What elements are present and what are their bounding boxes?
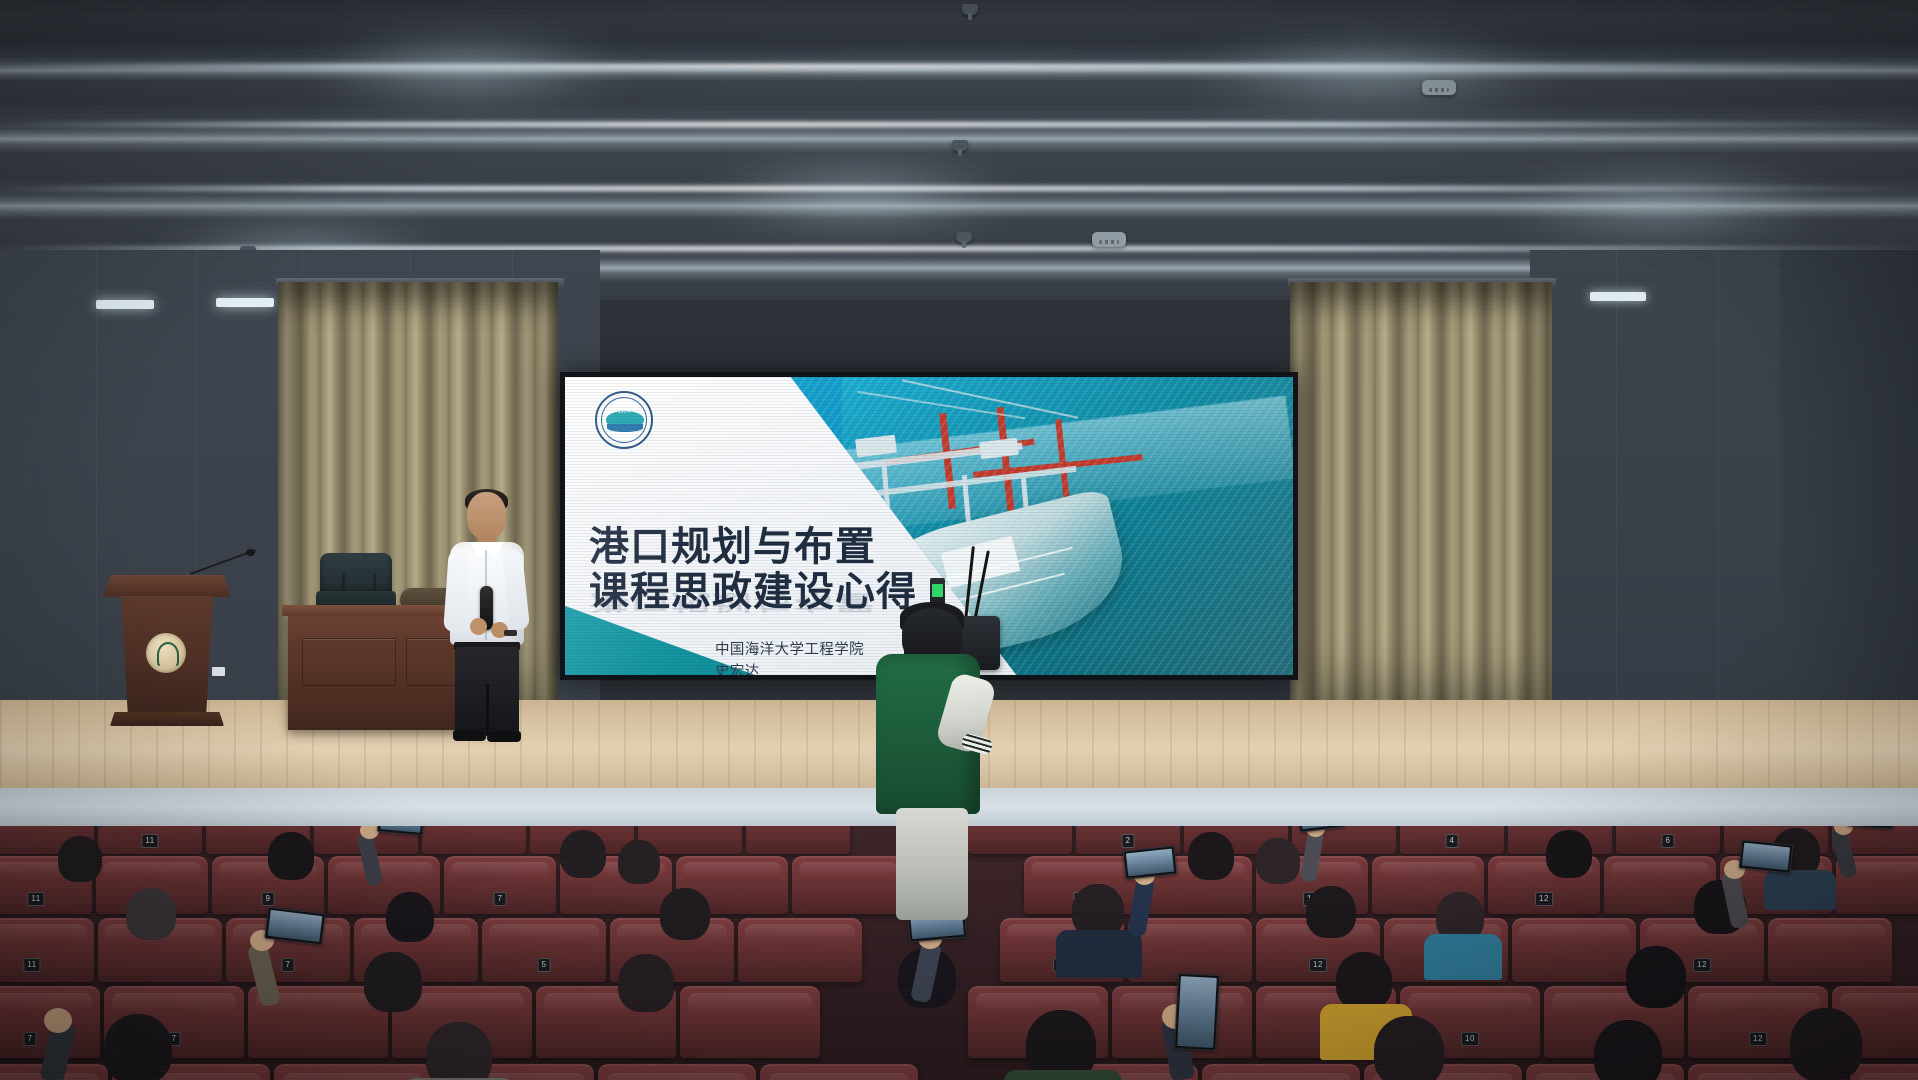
phone-screen — [1126, 849, 1174, 877]
sprinkler-head-icon — [962, 4, 978, 15]
phone-screen — [380, 826, 422, 833]
mic-head — [246, 549, 255, 556]
seat-number: 12 — [1749, 1032, 1767, 1046]
slide-subtitle-block: 中国海洋大学工程学院 史宏达 2023年04月01日 — [715, 640, 864, 675]
lectern-crest-icon — [146, 633, 186, 673]
auditorium-scene: 1924 港口规划与布置 课程思政建设心得 港口规划与布置 中国海洋大学工程学院… — [0, 0, 1918, 1080]
audience-head — [58, 836, 102, 882]
right-wall-shadow-panel — [1780, 250, 1918, 720]
auditorium-seat[interactable]: 11 — [98, 826, 202, 854]
smoke-detector-icon — [1422, 80, 1456, 95]
seat-number: 11 — [27, 892, 44, 906]
auditorium-seat[interactable] — [1202, 1064, 1360, 1080]
audience-torso — [1424, 934, 1502, 980]
audience-head — [126, 888, 176, 940]
recessed-spotlight — [96, 300, 154, 309]
presenter-wristwatch — [504, 630, 517, 636]
audience-head — [1594, 1020, 1662, 1080]
audience-head — [1626, 946, 1686, 1008]
auditorium-seat[interactable]: 4 — [1400, 826, 1504, 854]
seat-number: 6 — [1662, 834, 1675, 848]
chair-seam — [342, 573, 376, 593]
auditorium-seat[interactable] — [1128, 918, 1252, 982]
slide-title-reflection-line-1: 港口规划与布置 — [589, 590, 876, 613]
presenter[interactable] — [444, 492, 530, 740]
auditorium-seat[interactable] — [1512, 918, 1636, 982]
presenter-left-hand — [470, 618, 487, 635]
audience-head — [1374, 1016, 1444, 1080]
phone-screen — [268, 910, 323, 942]
seat-number: 7 — [494, 892, 507, 906]
audience-head — [1790, 1008, 1862, 1080]
auditorium-seat[interactable] — [680, 986, 820, 1058]
seat-number: 5 — [538, 958, 551, 972]
slide-title-reflection: 港口规划与布置 — [589, 590, 876, 613]
presenter-left-shoe — [453, 730, 486, 741]
presenter-head — [467, 492, 506, 539]
auditorium-seat[interactable] — [1850, 1064, 1918, 1080]
smartphone[interactable] — [1123, 845, 1178, 879]
stage-curtain-right — [1290, 282, 1552, 722]
videographer-trousers — [896, 808, 968, 920]
logo-year: 1924 — [602, 409, 646, 415]
logo-inner-ring: 1924 — [601, 397, 647, 443]
seat-number: 11 — [141, 834, 158, 848]
auditorium-seat[interactable]: 7 — [444, 856, 556, 914]
seat-number: 12 — [1693, 958, 1711, 972]
audience-head — [426, 1022, 492, 1080]
auditorium-seat[interactable] — [746, 826, 850, 854]
audience-head — [1306, 886, 1356, 938]
audience-head — [1336, 952, 1392, 1010]
audience-torso — [1004, 1070, 1122, 1080]
slide-title-line-1: 港口规划与布置 — [589, 525, 917, 570]
lectern[interactable] — [112, 575, 222, 730]
ceiling-light-glow — [700, 176, 1020, 216]
audience-head — [1546, 830, 1592, 878]
auditorium-seat[interactable]: 6 — [1616, 826, 1720, 854]
presenter-leg-gap — [486, 684, 489, 736]
auditorium-seat[interactable] — [760, 1064, 918, 1080]
seat-number: 7 — [282, 958, 295, 972]
audience-head — [386, 892, 434, 942]
ocean-university-logo-icon: 1924 — [595, 391, 653, 449]
audience-torso — [1764, 870, 1836, 910]
smartphone[interactable] — [1174, 973, 1220, 1051]
ceiling-light-glow — [300, 46, 630, 92]
logo-wave-shape-lower — [607, 424, 643, 432]
audience-head — [618, 840, 660, 884]
table-front-panel — [302, 638, 396, 686]
seat-number: 9 — [262, 892, 275, 906]
ceiling-light-glow — [1180, 52, 1560, 96]
audience-head — [618, 954, 674, 1012]
slide-affiliation: 中国海洋大学工程学院 — [715, 640, 864, 662]
auditorium-seat[interactable] — [422, 826, 526, 854]
audience-head — [104, 1014, 172, 1080]
audience-head — [364, 952, 422, 1012]
audience-head — [1256, 838, 1300, 884]
audience-head — [268, 832, 314, 880]
auditorium-seat[interactable]: 5 — [482, 918, 606, 982]
seat-number: 12 — [1535, 892, 1553, 906]
lectern-side-plate — [212, 667, 225, 676]
audience-head — [560, 830, 606, 878]
auditorium-seat[interactable] — [1768, 918, 1892, 982]
seat-number: 10 — [1461, 1032, 1479, 1046]
audience-hand — [44, 1008, 72, 1033]
sprinkler-head-icon — [952, 140, 968, 151]
seat-number: 2 — [1122, 834, 1135, 848]
auditorium-seat[interactable] — [598, 1064, 756, 1080]
audience-head — [660, 888, 710, 940]
slide-presenter: 史宏达 — [715, 662, 864, 675]
sprinkler-head-icon — [956, 232, 972, 243]
seat-number: 11 — [23, 958, 40, 972]
seat-number: 7 — [24, 1032, 37, 1046]
lectern-base — [110, 712, 224, 726]
auditorium-seat[interactable] — [738, 918, 862, 982]
smartphone[interactable] — [264, 907, 325, 946]
phone-screen — [1177, 976, 1217, 1048]
smartphone[interactable] — [1739, 839, 1794, 873]
seat-number: 4 — [1446, 834, 1459, 848]
videographer[interactable] — [868, 590, 998, 920]
recessed-spotlight — [216, 298, 274, 307]
audience-head — [1188, 832, 1234, 880]
auditorium-seat[interactable] — [274, 1064, 432, 1080]
lectern-top — [103, 575, 231, 597]
receiver-screen — [932, 584, 943, 597]
seat-number: 12 — [1309, 958, 1327, 972]
gooseneck-microphone-icon — [190, 551, 264, 577]
auditorium-seat[interactable]: 11 — [0, 918, 94, 982]
recessed-spotlight — [1590, 292, 1646, 301]
presenter-right-shoe — [487, 731, 521, 742]
phone-screen — [1742, 843, 1790, 871]
ceiling-light-glow — [1500, 184, 1830, 224]
smoke-detector-icon — [1092, 232, 1126, 247]
audience-torso — [1056, 930, 1142, 978]
